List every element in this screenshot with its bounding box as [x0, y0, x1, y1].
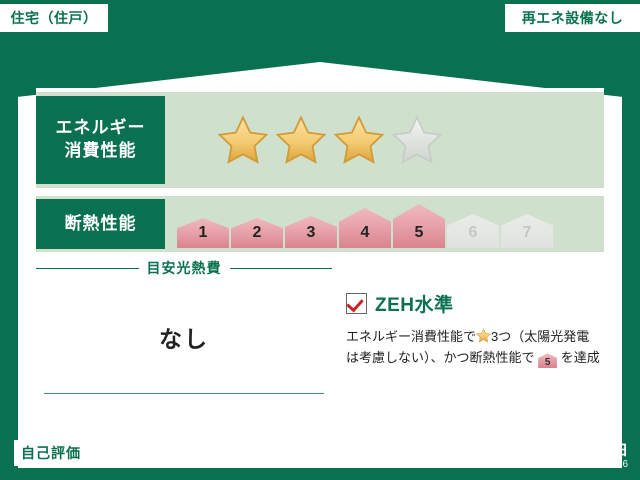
insulation-grade-7-number: 7 [523, 224, 532, 252]
property-name: ハートフルタウン(立)立川一番町2期(立川)A号棟 [96, 444, 392, 464]
insulation-grade-1-number: 1 [199, 224, 208, 252]
insulation-grade-2-number: 2 [253, 224, 262, 252]
insulation-grade-5-number: 5 [415, 224, 424, 252]
insulation-grade-4-number: 4 [361, 224, 370, 252]
energy-label-card: 住宅（住戸） 再エネ設備なし 建築物省エネ法に基づく 省エネ性能ラベル エネルギ… [0, 0, 640, 480]
footer: 自己評価 ハートフルタウン(立)立川一番町2期(立川)A号棟 評価日 2026年… [0, 0, 640, 480]
evaluation-id: 055f0866-e4ef-4946 [538, 459, 628, 470]
insulation-grade-6-number: 6 [469, 224, 478, 252]
self-evaluation-badge: 自己評価 [14, 440, 88, 466]
evaluation-date: 評価日 2026年2月13日 [486, 440, 628, 460]
insulation-grade-3-number: 3 [307, 224, 316, 252]
